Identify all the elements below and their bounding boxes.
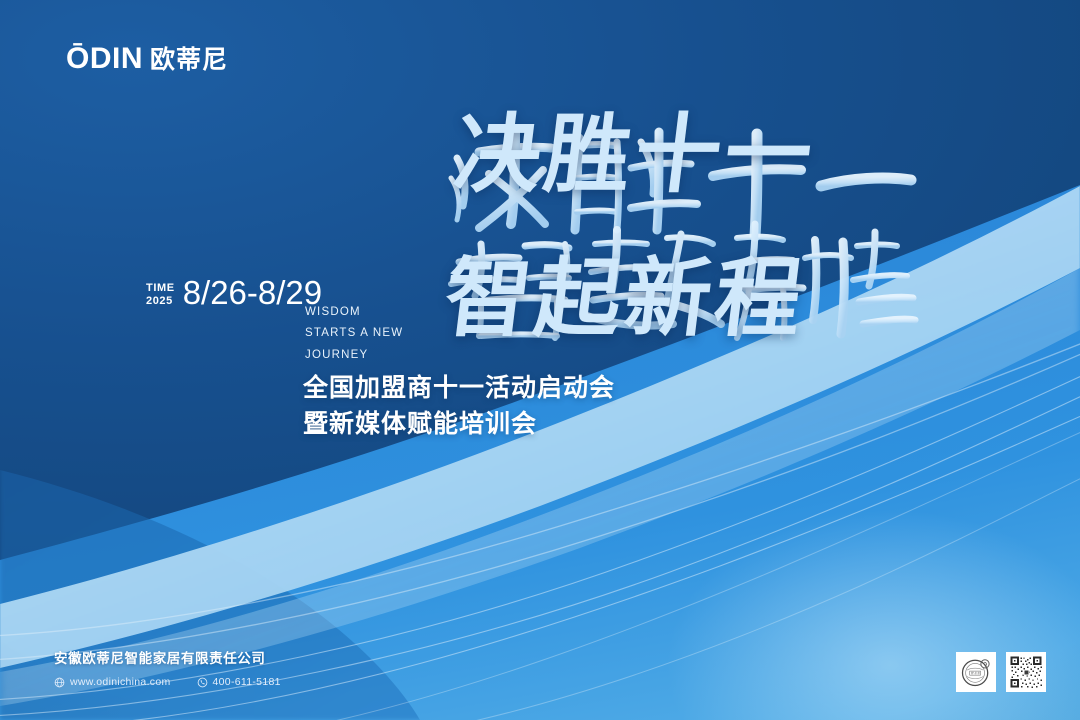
globe-icon <box>54 677 65 688</box>
brand-wordmark: ŌDIN <box>66 44 143 74</box>
time-label: TIME 2025 <box>146 276 175 308</box>
subtitle-line-1: 全国加盟商十一活动启动会 <box>303 370 615 406</box>
event-date-range: 8/26-8/29 <box>183 276 322 309</box>
subtitle-line-2: 暨新媒体赋能培训会 <box>303 406 615 442</box>
qr-code[interactable] <box>1006 652 1046 692</box>
english-tagline: WISDOM STARTS A NEW JOURNEY <box>305 302 403 366</box>
event-date-block: TIME 2025 8/26-8/29 <box>146 276 322 309</box>
footer-contact-row: www.odinichina.com 400-611-5181 <box>54 676 281 688</box>
brand-logo: ŌDIN 欧蒂尼 <box>66 44 228 74</box>
brand-wordmark-cn: 欧蒂尼 <box>150 47 228 72</box>
footer: 安徽欧蒂尼智能家居有限责任公司 www.odinichina.com 400-6… <box>54 651 281 688</box>
tagline-line-2: STARTS A NEW <box>305 323 403 344</box>
time-label-year: 2025 <box>146 295 175 308</box>
seal-emblem[interactable] <box>956 652 996 692</box>
time-label-top: TIME <box>146 282 175 295</box>
badge-group <box>956 652 1046 692</box>
footer-website: www.odinichina.com <box>54 676 171 688</box>
company-name: 安徽欧蒂尼智能家居有限责任公司 <box>54 651 281 669</box>
footer-phone: 400-611-5181 <box>197 676 281 688</box>
background-flow-lines <box>0 0 1080 720</box>
phone-icon <box>197 677 208 688</box>
event-subtitle: 全国加盟商十一活动启动会 暨新媒体赋能培训会 <box>303 370 615 441</box>
event-poster: ŌDIN 欧蒂尼 <box>0 0 1080 720</box>
website-text: www.odinichina.com <box>70 676 171 688</box>
tagline-line-3: JOURNEY <box>305 345 403 366</box>
phone-text: 400-611-5181 <box>213 676 281 688</box>
tagline-line-1: WISDOM <box>305 302 403 323</box>
